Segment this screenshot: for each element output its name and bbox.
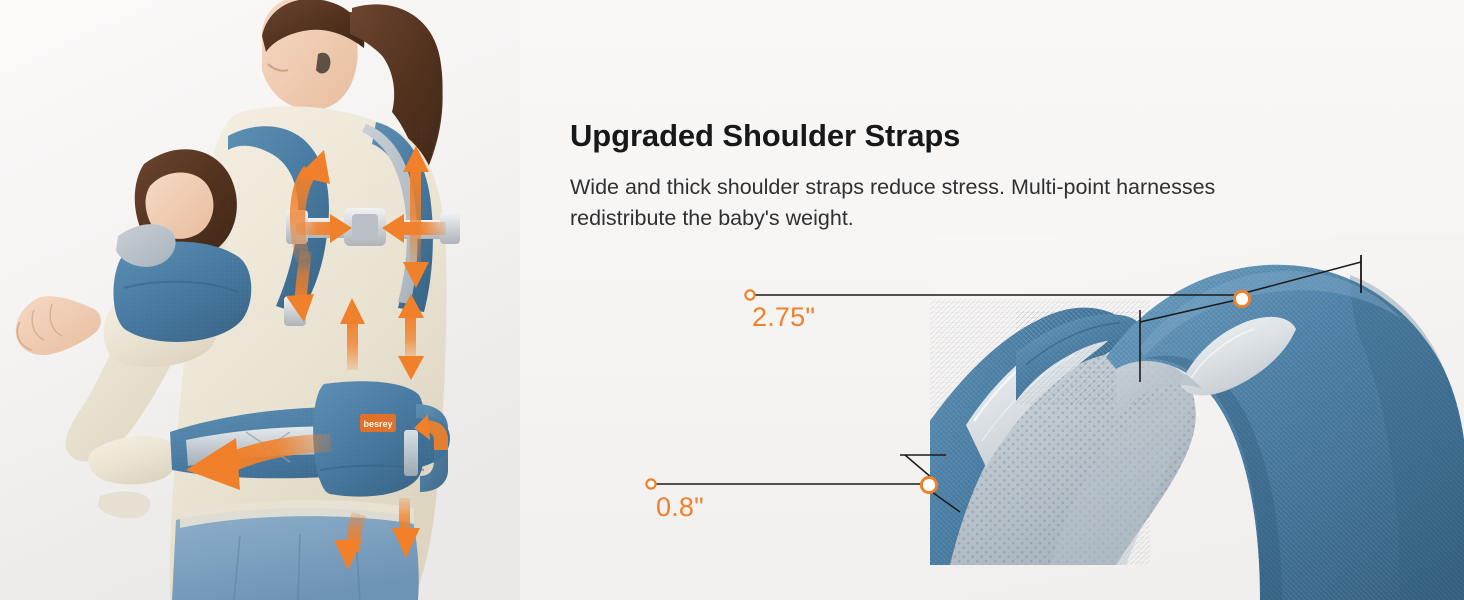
callout-08-label: 0.8" [656,492,704,523]
callout-08 [646,455,960,512]
strap-closeup-illustration [930,235,1464,600]
strap-closeup-photo [930,235,1464,600]
callout-08-start-marker [646,479,655,488]
page-title: Upgraded Shoulder Straps [570,118,1330,155]
lifestyle-photo-illustration: besrey [0,0,520,600]
lifestyle-photo: besrey [0,0,520,600]
callout-275-start-marker [745,290,754,299]
body-text: Wide and thick shoulder straps reduce st… [570,172,1282,234]
brand-tag: besrey [360,414,396,432]
brand-tag-label: besrey [363,419,392,429]
text-block: Upgraded Shoulder Straps Wide and thick … [570,118,1330,234]
callout-275-label: 2.75" [752,302,815,333]
promo-banner: besrey [0,0,1464,600]
